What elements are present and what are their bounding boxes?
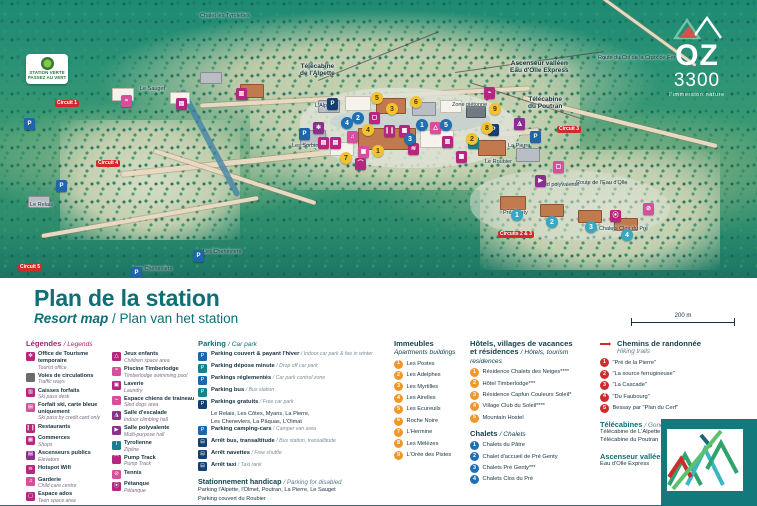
hiking-heading-en: Hiking trails (617, 348, 720, 355)
map-pin[interactable]: ▤ (176, 98, 187, 110)
legend-item-label-fr: Restaurants (38, 424, 70, 431)
hotels-column: Hôtels, villages de vacances et résidenc… (470, 340, 600, 506)
map-label: Télécabine du Poutran (528, 96, 562, 111)
map-number-marker[interactable]: 5 (371, 92, 383, 104)
parking-symbol-icon: P (198, 400, 207, 409)
legend-item-label-en: Ski pass desk (38, 394, 80, 400)
flower-icon (41, 57, 54, 70)
list-item: 1Les Postes (394, 360, 470, 369)
legend-item: ⌁Espace chiens de traineauSled dogs area (112, 396, 198, 409)
map-number-marker[interactable]: 9 (489, 103, 501, 115)
legend-item-label-fr: Salle polyvalente (124, 425, 169, 432)
list-item-number: 3 (394, 382, 403, 391)
list-item: 8Les Mélèzes (394, 439, 470, 448)
buildings-heading-en: Apartments buildings (394, 349, 456, 356)
legend-item: ▢Espace adosTeen space area (26, 491, 112, 504)
hiking-heading-fr: Chemins de randonnée (617, 339, 701, 348)
list-item: 4Village Club du Soleil**** (470, 402, 600, 411)
legend-item: ⌒Pump TrackPump Track (112, 455, 198, 468)
list-item-number: 7 (394, 428, 403, 437)
map-canvas[interactable]: OZ 3300 l'immersion nature STATION VERTE… (0, 0, 757, 290)
legend-item-text: Pump TrackPump Track (124, 455, 156, 468)
arrow-icon (600, 342, 613, 346)
map-number-marker[interactable]: 5 (440, 119, 452, 131)
list-item-number: 5 (600, 404, 609, 413)
map-label: Le Roubier (485, 159, 512, 165)
list-item-number: 5 (394, 405, 403, 414)
legend-item-text: Jeux enfantsChildren space area (124, 351, 170, 364)
legend-item: ◮Salle d'escaladeIndoor climbing hall (112, 410, 198, 423)
parking-item-text: Arrêt bus, transaltitude / Bus station, … (211, 438, 336, 445)
legend-item-label-fr: Piscine Timberlodge (124, 366, 187, 373)
map-pin[interactable]: ⌁ (484, 87, 495, 99)
legend-item-label-fr: Commerces (38, 435, 70, 442)
parking-item-text: Parking bus / Bus station (211, 387, 274, 394)
legend-item-label-en: Pump Track (124, 461, 156, 467)
legend-item: ⦿PétanquePétanque (112, 481, 198, 494)
legend-item-label-en: Child care centre (38, 483, 77, 489)
legend-item-text: Office de Tourisme temporaireTourist off… (38, 351, 112, 370)
map-number-marker[interactable]: 1 (511, 209, 523, 221)
list-item-number: 2 (394, 371, 403, 380)
map-number-marker[interactable]: 3 (585, 221, 597, 233)
parking-item-label-en: / Bus station (244, 387, 274, 393)
map-label: Le Sauget (140, 86, 165, 92)
map-number-marker[interactable]: 6 (410, 96, 422, 108)
map-pin[interactable]: ▶ (535, 175, 546, 187)
legend-list-1: ✻Office de Tourisme temporaireTourist of… (26, 351, 112, 504)
list-item-number: 6 (394, 417, 403, 426)
legend-item-label-en: Sled dogs area (124, 402, 194, 408)
map-label: Le Relais (30, 202, 53, 208)
legend-column-2: . △Jeux enfantsChildren space area≈Pisci… (112, 340, 198, 506)
list-item: 4Chalets Clos du Pré (470, 475, 600, 484)
parking-heading-en: Car park (232, 341, 257, 348)
legend-item-text: Ascenseurs publicsElevators (38, 450, 91, 463)
parking-item: PParking bus / Bus station (198, 387, 394, 397)
legend-item-label-fr: Tennis (124, 470, 142, 477)
list-item: 3"La Cascade" (600, 381, 720, 390)
list-item: 2Les Adelphes (394, 371, 470, 380)
parking-symbol-icon: P (198, 388, 207, 397)
legend-item-label-en: Laundry (124, 388, 144, 394)
list-item-label: Chalets du Pâtre (483, 442, 525, 449)
list-item-label: Bessay par "Plan du Cerf" (613, 405, 679, 412)
chalets-heading-fr: Chalets (470, 429, 497, 438)
list-item: 2"La source ferrugineuse" (600, 370, 720, 379)
legend-item-label-en: Indoor climbing hall (124, 417, 168, 423)
map-pin[interactable]: P (24, 118, 35, 130)
legend-symbol-icon: ▣ (112, 381, 121, 390)
list-item-number: 4 (470, 402, 479, 411)
buildings-column: Immeubles Apartments buildings 1Les Post… (394, 340, 470, 506)
parking-item-label-fr: Parkings réglementés (211, 375, 271, 381)
list-item: 5Bessay par "Plan du Cerf" (600, 404, 720, 413)
oz-tagline: l'immersion nature (651, 92, 743, 98)
legend-heading-en: Legends (67, 341, 92, 348)
list-item-label: Roche Noire (407, 418, 439, 425)
legend-item: ▥Caisses forfaitsSki pass desk (26, 388, 112, 401)
parking-symbol-icon: P (198, 364, 207, 373)
handicap-line-1: Parking l'Alpette, l'Olmet, Poutran, La … (198, 487, 394, 495)
map-number-marker[interactable]: 4 (621, 229, 633, 241)
list-item-label: Résidence Capfun Couleurs Soleil* (483, 392, 572, 399)
map-pin[interactable]: ▤ (318, 137, 329, 149)
legend-symbol-icon: ♫ (26, 477, 35, 486)
legend-item: ▶Salle polyvalenteMulti-purpose hall (112, 425, 198, 438)
trail-badge[interactable]: Circuit 5 (18, 264, 42, 271)
legend-item-label-fr: Caisses forfaits (38, 388, 80, 395)
legend-item: △Jeux enfantsChildren space area (112, 351, 198, 364)
legend-symbol-icon: ⌁ (112, 396, 121, 405)
legend-item-label-fr: Voies de circulations (38, 373, 94, 380)
building (478, 140, 506, 156)
list-item-number: 4 (394, 394, 403, 403)
legend-item-text: GarderieChild care centre (38, 477, 77, 490)
list-item-number: 3 (470, 464, 479, 473)
legend-item: ⊘Tennis (112, 470, 198, 480)
map-pin[interactable]: P (56, 180, 67, 192)
trail-badge[interactable]: Circuits 2 & 3 (498, 231, 534, 238)
legend-item-label-fr: Office de Tourisme temporaire (38, 351, 112, 364)
parking-item-text: Arrêt taxi / Taxi rank (211, 462, 262, 469)
legend-item: ▤Ascenseurs publicsElevators (26, 450, 112, 463)
legend-symbol-icon: ✻ (26, 352, 35, 361)
legend-item: ≈Piscine TimberlodgeTimberlodge swimming… (112, 366, 198, 379)
legend-symbol-icon: ◮ (112, 411, 121, 420)
list-item-number: 1 (600, 358, 609, 367)
list-item: 2Hôtel Timberlodge*** (470, 379, 600, 388)
map-number-marker[interactable]: 3 (404, 133, 416, 145)
legend-item-text: LaverieLaundry (124, 381, 144, 394)
legend-item-label-en: Teen space area (38, 498, 76, 504)
legend-item-text: Tennis (124, 470, 142, 477)
legend-item-text: Forfait ski, carte bleue uniquementSki p… (38, 402, 112, 421)
map-pin[interactable]: ♫ (347, 131, 358, 143)
list-item-number: 3 (600, 381, 609, 390)
list-item-label: Village Club du Soleil**** (483, 403, 546, 410)
parking-list: PParking couvert & payant l'hiver / Indo… (198, 351, 394, 471)
parking-item-text: Parkings gratuits / Free car park (211, 399, 294, 406)
legend-symbol-icon: ▦ (26, 436, 35, 445)
building (516, 148, 540, 162)
list-item-number: 9 (394, 451, 403, 460)
map-pin[interactable]: P (299, 128, 310, 140)
map-label: Route de l'Eau d'Olle (576, 180, 627, 186)
chalets-list: 1Chalets du Pâtre2Chalet d'accueil de Pr… (470, 441, 600, 484)
map-pin[interactable]: ⦿ (610, 210, 621, 222)
hotels-list: 1Résidence Chalets des Neiges****2Hôtel … (470, 368, 600, 423)
map-pin[interactable]: ▣ (358, 146, 369, 158)
building (200, 72, 222, 84)
parking-item-label-en: / Camper van area (272, 426, 316, 432)
legend-item-label-en: Timberlodge swimming pool (124, 373, 187, 379)
legend-symbol-icon: ≋ (26, 465, 35, 474)
parking-item-label-en: / Free car park (258, 399, 293, 405)
list-item-label: Les Mélèzes (407, 441, 439, 448)
hiking-list: 1"Pré de la Pierre"2"La source ferrugine… (600, 358, 720, 413)
parking-item: PParking camping-cars / Camper van area (198, 426, 394, 436)
parking-item: ⊟Arrêt taxi / Taxi rank (198, 462, 394, 472)
list-item-number: 5 (470, 414, 479, 423)
map-pin[interactable]: ▥ (236, 88, 247, 100)
legend-item-label-en: Ski pass by credit card only (38, 415, 112, 421)
map-area[interactable]: OZ 3300 l'immersion nature STATION VERTE… (0, 0, 757, 290)
trail-badge[interactable]: Circuit 1 (55, 100, 79, 107)
hotels-heading: Hôtels, villages de vacances et résidenc… (470, 340, 600, 365)
map-pin[interactable]: ⊘ (643, 203, 654, 215)
mountain-marks-icon (667, 429, 743, 491)
list-item: 7L'Hermine (394, 428, 470, 437)
map-label: Ascenseur valléen Eau d'Olle Express (510, 60, 569, 75)
list-item-label: Chalets Pré Genty*** (483, 465, 536, 472)
legend-item-label-fr: Jeux enfants (124, 351, 170, 358)
legend-item-text: Voies de circulationsTraffic ways (38, 373, 94, 386)
handicap-heading-fr: Stationnement handicap (198, 477, 281, 486)
parking-item-text: Parking couvert & payant l'hiver / Indoo… (211, 351, 373, 358)
list-item-number: 1 (470, 368, 479, 377)
map-pin[interactable]: ⌒ (355, 158, 366, 170)
list-item: 9L'Orée des Pistes (394, 451, 470, 460)
legend-symbol-icon: ⌒ (112, 455, 121, 464)
legend-item: ❙❙Restaurants (26, 424, 112, 434)
map-label: Route du Col de la Croix de Fer (598, 55, 675, 61)
legend-symbol-icon: ▶ (112, 426, 121, 435)
gondolas-heading-fr: Télécabines (600, 420, 642, 429)
list-item-number: 4 (470, 475, 479, 484)
legend-item-text: Salle polyvalenteMulti-purpose hall (124, 425, 169, 438)
mountain-peaks-icon (651, 14, 743, 40)
parking-item-text: Arrêt navettes / Free shuttle (211, 450, 282, 457)
map-number-marker[interactable]: 2 (352, 112, 364, 124)
parking-item-label-fr: Parking camping-cars (211, 426, 272, 432)
map-pin[interactable]: ≈ (121, 95, 132, 107)
map-number-marker[interactable]: 3 (386, 103, 398, 115)
parking-symbol-icon: ⊟ (198, 462, 207, 471)
list-item-label: Hôtel Timberlodge*** (483, 381, 536, 388)
parking-symbol-icon: P (198, 426, 207, 435)
legend-item-text: TyrolienneZipline (124, 440, 152, 453)
legend-symbol-icon: ▢ (26, 492, 35, 501)
list-item-label: Les Adelphes (407, 372, 441, 379)
legend-heading: Légendes / Legends (26, 340, 112, 348)
parking-item-text: Parking dépose minute / Drop off car par… (211, 363, 318, 370)
map-pin[interactable]: ▤ (330, 137, 341, 149)
list-item-label: Résidence Chalets des Neiges**** (483, 369, 570, 376)
list-item: 5Mountain Hostel (470, 414, 600, 423)
legend-symbol-icon: ▥ (26, 388, 35, 397)
list-item-label: Mountain Hostel (483, 415, 524, 422)
legend-symbol-icon (26, 373, 35, 382)
parking-item-label-fr: Parking bus (211, 387, 244, 393)
parking-item: PParkings réglementés / Car park control… (198, 375, 394, 385)
list-item-label: Les Myrtilles (407, 384, 439, 391)
page-subtitle-sep: / (108, 311, 119, 326)
parking-item-label-fr: Parking dépose minute (211, 363, 275, 369)
scale-label: 200 m (672, 313, 695, 319)
legend-item-label-en: Traffic ways (38, 379, 94, 385)
legend-item: ▣LaverieLaundry (112, 381, 198, 394)
legend-item-label-en: Tourist office (38, 365, 112, 371)
parking-symbol-icon: ⊟ (198, 438, 207, 447)
parking-heading: Parking / Car park (198, 340, 394, 348)
legend-symbol-icon: ⦿ (112, 482, 121, 491)
legend-item-text: Piscine TimberlodgeTimberlodge swimming … (124, 366, 187, 379)
map-label: Chalet les Tyrolettes (200, 13, 250, 19)
buildings-heading: Immeubles Apartments buildings (394, 340, 470, 357)
legend-item-text: Hotspot Wifi (38, 465, 71, 472)
map-pin[interactable]: ❙❙ (384, 125, 395, 137)
map-number-marker[interactable]: 4 (362, 124, 374, 136)
legend-item-label-fr: Pump Track (124, 455, 156, 462)
list-item: 4"Du Faubourg" (600, 393, 720, 402)
list-item-label: "Du Faubourg" (613, 394, 650, 401)
legend-item-text: CommercesShops (38, 435, 70, 448)
legend-item-label-en: Pétanque (124, 488, 149, 494)
map-pin[interactable]: ✻ (313, 122, 324, 134)
map-label: Les Cheneviers (203, 249, 241, 255)
list-item: 4Les Airelles (394, 394, 470, 403)
legend-item-text: PétanquePétanque (124, 481, 149, 494)
legend-item-label-fr: Pétanque (124, 481, 149, 488)
legend-symbol-icon: ≈ (112, 367, 121, 376)
list-item-number: 8 (394, 439, 403, 448)
parking-item-label-en: / Drop off car park (275, 363, 318, 369)
list-item-label: "Pré de la Pierre" (613, 360, 657, 367)
parking-column: Parking / Car park PParking couvert & pa… (198, 340, 394, 506)
list-item-number: 4 (600, 393, 609, 402)
map-pin[interactable]: P (530, 131, 541, 143)
legend-symbol-icon: ▤ (26, 451, 35, 460)
parking-item: PParking dépose minute / Drop off car pa… (198, 363, 394, 373)
list-item-number: 2 (470, 452, 479, 461)
legend-item: Voies de circulationsTraffic ways (26, 373, 112, 386)
list-item: 1Chalets du Pâtre (470, 441, 600, 450)
legend-item-label-fr: Tyrolienne (124, 440, 152, 447)
legend-item-text: Espace adosTeen space area (38, 491, 76, 504)
parking-item: PParkings gratuits / Free car park (198, 399, 394, 409)
map-number-marker[interactable]: 2 (466, 133, 478, 145)
hiking-heading-text: Chemins de randonnée (617, 340, 701, 348)
map-pin[interactable]: ▦ (456, 151, 467, 163)
hiking-heading: Chemins de randonnée (600, 340, 720, 348)
list-item-label: L'Hermine (407, 429, 433, 436)
building (345, 96, 371, 111)
legend-item: ♫GarderieChild care centre (26, 477, 112, 490)
legend-column-1: Légendes / Legends ✻Office de Tourisme t… (26, 340, 112, 506)
map-number-marker[interactable]: 1 (416, 119, 428, 131)
parking-item-label-en: / Car park control zone (271, 375, 325, 381)
legend-item-text: Espace chiens de traineauSled dogs area (124, 396, 194, 409)
list-item-number: 1 (394, 360, 403, 369)
parking-item-text: Parkings réglementés / Car park control … (211, 375, 325, 382)
list-item: 5Les Ecureuils (394, 405, 470, 414)
parking-free-list-line2: Les Chenevlers, La Pâquas, L'Olmat (211, 419, 394, 426)
parking-free-list-line1: Le Relais, Les Côtes, Myans, La Pierre, (211, 411, 394, 418)
map-number-marker[interactable]: 1 (372, 145, 384, 157)
parking-item-label-en: / Taxi rank (236, 462, 261, 468)
oz-altitude: 3300 (651, 71, 743, 90)
list-item-label: Les Postes (407, 361, 435, 368)
legend-item-label-fr: Garderie (38, 477, 77, 484)
map-number-marker[interactable]: 7 (340, 152, 352, 164)
legend-list-2: △Jeux enfantsChildren space area≈Piscine… (112, 351, 198, 494)
hotels-heading-line2: et résidences (470, 347, 519, 356)
map-label: Zone piétonne (452, 102, 487, 108)
list-item-label: Les Ecureuils (407, 406, 441, 413)
list-item-label: Les Airelles (407, 395, 436, 402)
list-item: 3Les Myrtilles (394, 382, 470, 391)
mountain-marks-logo (667, 429, 743, 491)
chalets-heading: Chalets / Chalets (470, 430, 600, 438)
legend-panel: Plan de la station Resort map / Plan van… (0, 278, 757, 505)
building (500, 196, 526, 210)
legend-item: ≋Hotspot Wifi (26, 465, 112, 475)
map-pin[interactable]: ▥ (442, 136, 453, 148)
map-pin[interactable]: ◮ (514, 118, 525, 130)
legend-item-label-fr: Laverie (124, 381, 144, 388)
scale-bar: 200 m (631, 318, 735, 326)
list-item: 2Chalet d'accueil de Pré Genty (470, 452, 600, 461)
list-item-label: L'Orée des Pistes (407, 452, 452, 459)
page-subtitle-nl: Plan van het station (120, 311, 239, 326)
map-pin[interactable]: P (193, 250, 204, 262)
list-item-label: "La Cascade" (613, 382, 647, 389)
map-number-marker[interactable]: 4 (341, 117, 353, 129)
list-item-label: Chalets Clos du Pré (483, 476, 534, 483)
legend-item-label-fr: Forfait ski, carte bleue uniquement (38, 402, 112, 415)
list-item-number: 3 (470, 391, 479, 400)
legend-item-text: Caisses forfaitsSki pass desk (38, 388, 80, 401)
legend-item-label-fr: Ascenseurs publics (38, 450, 91, 457)
parking-item-label-en: / Free shuttle (250, 450, 282, 456)
legend-item-text: Restaurants (38, 424, 70, 431)
legend-item-label-en: Shops (38, 442, 70, 448)
chalets-heading-en: Chalets (503, 431, 525, 438)
eco-label-line2: PASSEZ AU VERT (28, 76, 67, 81)
parking-item-label-en: / Indoor car park & fee in winter (299, 351, 373, 357)
parking-item: PParking couvert & payant l'hiver / Indo… (198, 351, 394, 361)
list-item-number: 1 (470, 441, 479, 450)
map-number-marker[interactable]: 8 (481, 122, 493, 134)
parking-symbol-icon: P (198, 376, 207, 385)
buildings-heading-fr: Immeubles (394, 339, 434, 348)
legend-symbol-icon: ⌇ (112, 441, 121, 450)
legend-item-label-en: Multi-purpose hall (124, 432, 169, 438)
handicap-line-2: Parking couvert du Roubier (198, 496, 394, 504)
page-title: Plan de la station (34, 286, 739, 310)
legend-item-label-en: Zipline (124, 447, 152, 453)
legend-item-label-en: Children space area (124, 358, 170, 364)
handicap-heading-en: Parking for disabled (287, 479, 342, 486)
legend-symbol-icon: ❙❙ (26, 424, 35, 433)
legend-item-label-fr: Salle d'escalade (124, 410, 168, 417)
list-item-label: Chalet d'accueil de Pré Genty (483, 454, 558, 461)
map-pin[interactable]: ▢ (369, 112, 380, 124)
trail-badge[interactable]: Circuit 4 (96, 160, 120, 167)
map-number-marker[interactable]: 2 (546, 216, 558, 228)
buildings-list: 1Les Postes2Les Adelphes3Les Myrtilles4L… (394, 360, 470, 460)
legend-item-label-en: Elevators (38, 457, 91, 463)
list-item: 1"Pré de la Pierre" (600, 358, 720, 367)
map-pin[interactable]: P (327, 98, 338, 110)
trail-badge[interactable]: Circuit 3 (557, 126, 581, 133)
map-label: La Pierre (508, 143, 530, 149)
legend-symbol-icon: ⊘ (112, 470, 121, 479)
handicap-heading: Stationnement handicap / Parking for dis… (198, 477, 394, 486)
parking-item: ⊟Arrêt navettes / Free shuttle (198, 450, 394, 460)
map-pin[interactable]: ▢ (553, 161, 564, 173)
